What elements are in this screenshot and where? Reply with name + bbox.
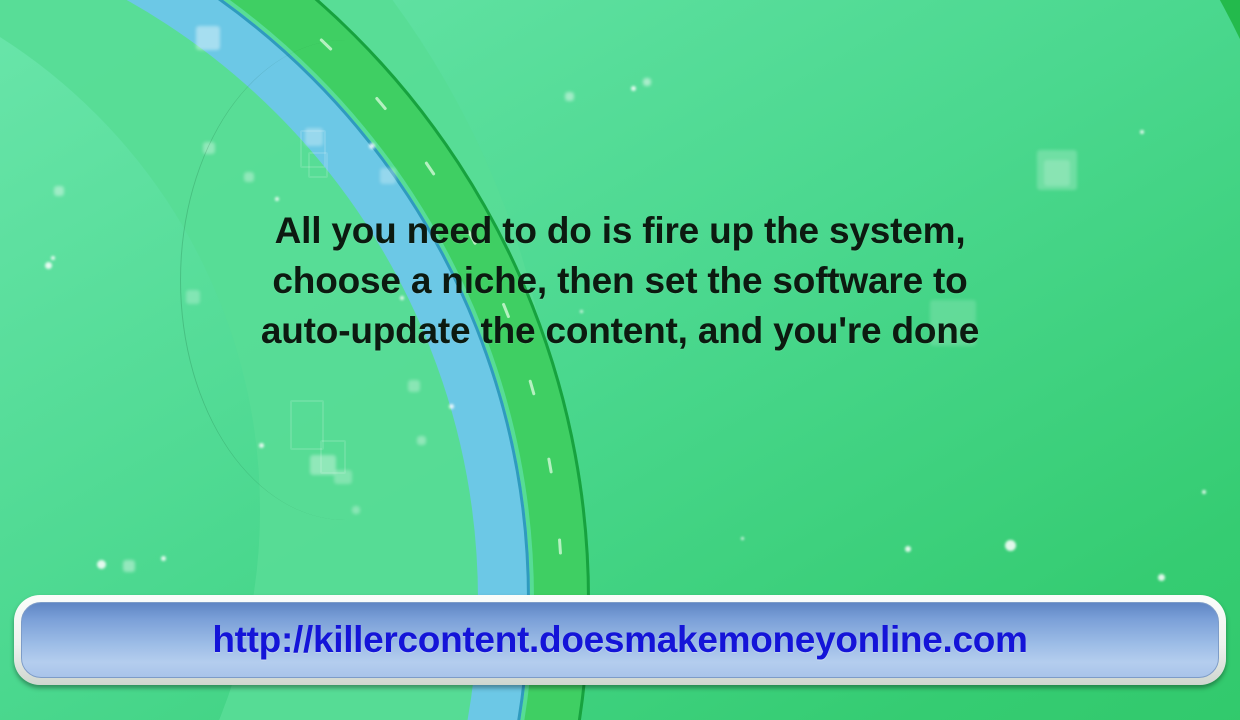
bokeh-dot: [741, 537, 744, 540]
url-link[interactable]: http://killercontent.doesmakemoneyonline…: [212, 619, 1027, 661]
headline-line-3: auto-update the content, and you're done: [120, 306, 1120, 356]
video-slide: All you need to do is fire up the system…: [0, 0, 1240, 720]
bokeh-dot: [631, 86, 636, 91]
bokeh-dot: [97, 560, 106, 569]
bokeh-square: [565, 92, 574, 101]
bokeh-dot: [905, 546, 911, 552]
bokeh-square: [1044, 160, 1070, 186]
bokeh-dot: [1140, 130, 1144, 134]
bokeh-dot: [1158, 574, 1165, 581]
bokeh-dot: [1005, 540, 1016, 551]
url-bar-inner[interactable]: http://killercontent.doesmakemoneyonline…: [21, 602, 1219, 678]
url-bar[interactable]: http://killercontent.doesmakemoneyonline…: [14, 595, 1226, 685]
bokeh-dot: [1202, 490, 1206, 494]
bokeh-square: [643, 78, 651, 86]
bokeh-square: [123, 560, 135, 572]
bokeh-dot: [161, 556, 166, 561]
bokeh-square: [196, 26, 220, 50]
headline-line-2: choose a niche, then set the software to: [120, 256, 1120, 306]
bokeh-square: [54, 186, 64, 196]
headline-line-1: All you need to do is fire up the system…: [120, 206, 1120, 256]
headline: All you need to do is fire up the system…: [0, 206, 1240, 356]
